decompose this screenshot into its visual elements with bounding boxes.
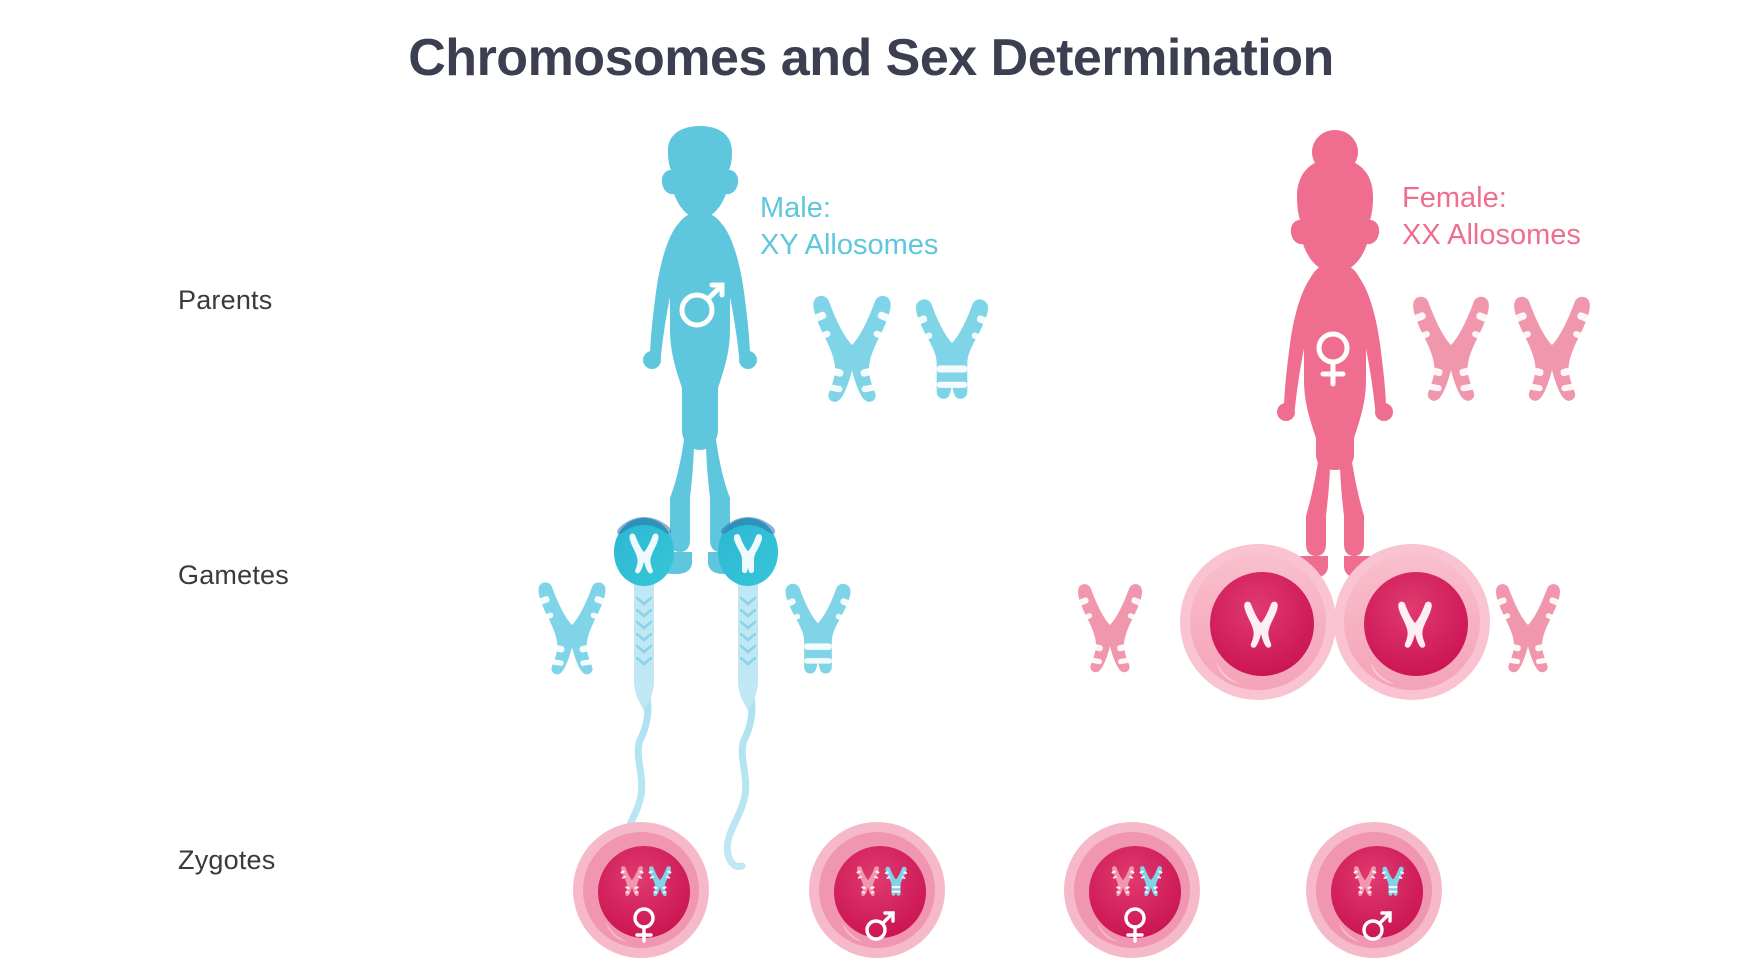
male-figure xyxy=(643,126,757,574)
diagram-canvas: Chromosomes and Sex Determination Parent… xyxy=(0,0,1742,980)
diagram-artwork xyxy=(0,0,1742,980)
zygote-2 xyxy=(809,822,945,958)
gamete-chromosome-x-pink-2 xyxy=(1494,584,1563,672)
male-chromosome-x xyxy=(811,296,894,402)
egg-cell-2 xyxy=(1334,544,1490,700)
female-figure xyxy=(1277,130,1393,578)
gamete-chromosome-y-blue xyxy=(783,584,853,674)
sperm-cell-y xyxy=(718,517,778,867)
zygote-4 xyxy=(1306,822,1442,958)
gamete-chromosome-x-pink-1 xyxy=(1076,584,1145,672)
egg-cell-1 xyxy=(1180,544,1336,700)
zygote-1 xyxy=(573,822,709,958)
sperm-cell-x xyxy=(614,517,674,867)
gamete-chromosome-x-blue xyxy=(536,582,608,674)
female-chromosome-x-1 xyxy=(1410,297,1491,401)
male-chromosome-y xyxy=(913,299,991,399)
zygote-3 xyxy=(1064,822,1200,958)
female-chromosome-x-2 xyxy=(1511,297,1592,401)
